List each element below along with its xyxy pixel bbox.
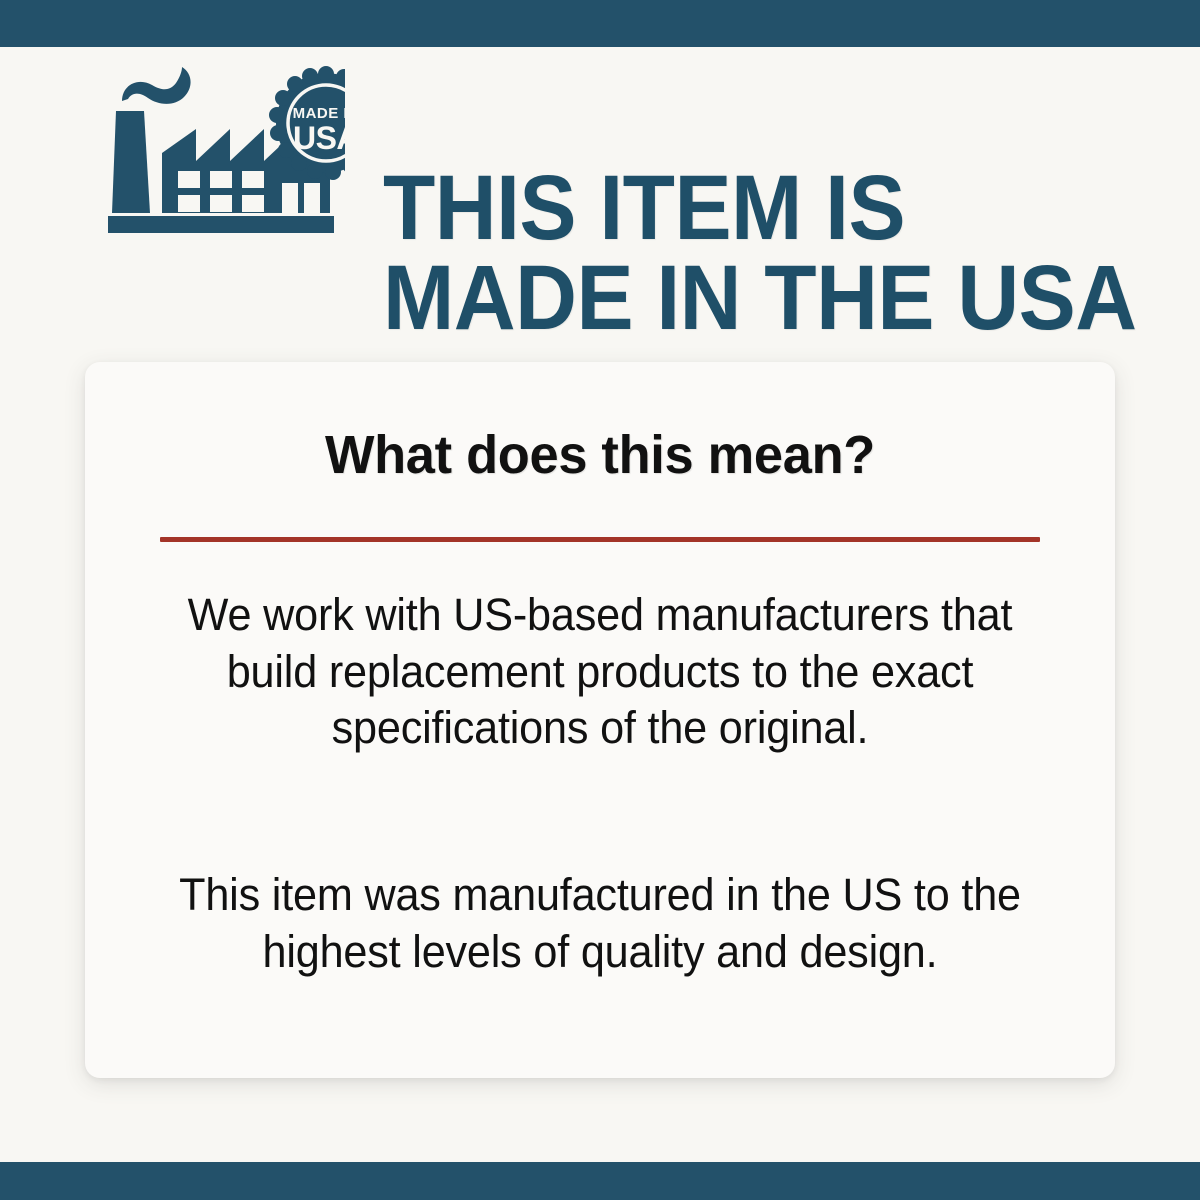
factory-icon: MADE IN USA [100,61,345,261]
badge-usa-text: USA [293,120,345,156]
body-paragraph-1: We work with US-based manufacturers that… [144,587,1056,757]
bottom-brand-bar [0,1162,1200,1200]
card-title: What does this mean? [100,424,1099,486]
page-title: THIS ITEM IS MADE IN THE USA [383,163,1137,343]
headline-line-1: THIS ITEM IS [383,163,1137,253]
card-body: We work with US-based manufacturers that… [144,587,1056,980]
headline-line-2: MADE IN THE USA [383,253,1137,343]
card-divider [160,537,1040,542]
made-in-usa-logo: MADE IN USA [100,61,345,261]
explanation-card: What does this mean? We work with US-bas… [85,362,1115,1078]
body-paragraph-2: This item was manufactured in the US to … [144,867,1056,980]
header: MADE IN USA THIS ITEM IS MADE IN THE USA [0,51,1200,291]
top-brand-bar [0,0,1200,47]
